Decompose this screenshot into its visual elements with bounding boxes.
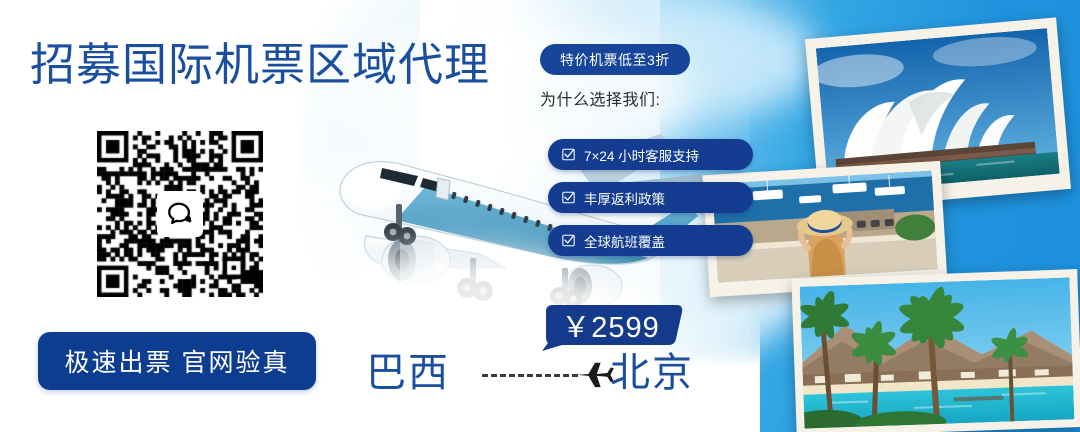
cta-button[interactable]: 极速出票 官网验真	[38, 332, 316, 390]
feature-pill-label: 7×24 小时客服支持	[584, 145, 699, 165]
price-bubble: ￥2599	[538, 305, 683, 351]
route-origin: 巴西	[366, 350, 450, 396]
feature-pill-support[interactable]: 7×24 小时客服支持	[548, 139, 753, 170]
route-destination: 北京	[610, 350, 694, 396]
price-value: ￥2599	[538, 305, 683, 345]
airplane-icon	[576, 358, 614, 388]
promo-banner: 招募国际机票区域代理 极速出票 官网验真 特价机票低至3折 为什么选择我们: 7…	[0, 0, 1080, 432]
feature-pill-rebate[interactable]: 丰厚返利政策	[548, 182, 753, 213]
feature-pill-label: 全球航班覆盖	[584, 231, 665, 251]
discount-badge: 特价机票低至3折	[540, 44, 690, 75]
checkbox-check-icon	[562, 191, 575, 204]
dashed-route-line	[482, 374, 578, 377]
qr-code[interactable]	[97, 131, 263, 297]
checkbox-check-icon	[562, 148, 575, 161]
wechat-chat-bubble-icon	[157, 191, 203, 237]
page-title: 招募国际机票区域代理	[30, 42, 490, 87]
checkbox-check-icon	[562, 234, 575, 247]
feature-pill-label: 丰厚返利政策	[584, 188, 665, 208]
route-row: 巴西 北京	[366, 350, 726, 398]
photo-tropical-palm-beach	[791, 269, 1080, 432]
feature-pill-coverage[interactable]: 全球航班覆盖	[548, 225, 753, 256]
section-subtitle: 为什么选择我们:	[540, 86, 660, 110]
